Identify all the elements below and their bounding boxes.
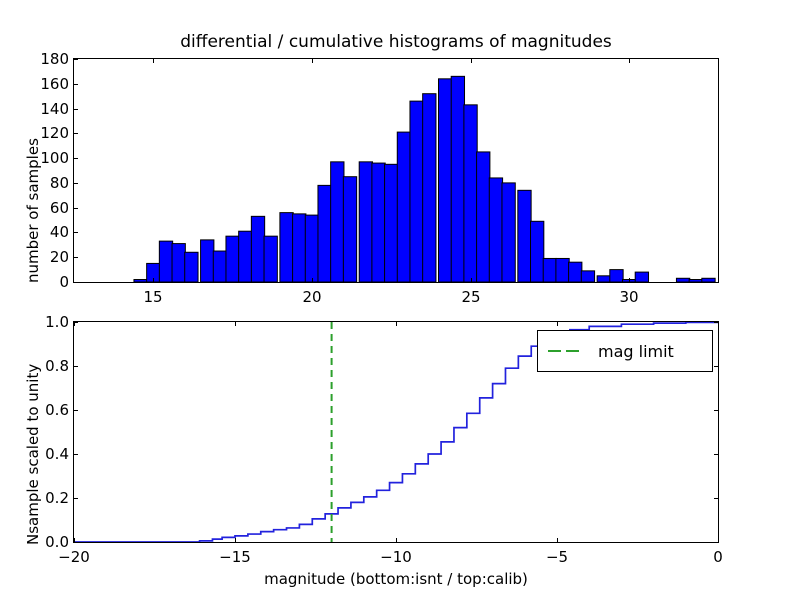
histogram-bar [134,280,147,282]
top-plot-surface [74,59,718,282]
bottom-x-tick-mark [557,538,558,542]
x-axis-label: magnitude (bottom:isnt / top:calib) [73,570,719,588]
legend-dash-segment [566,350,579,352]
legend: mag limit [537,330,713,372]
histogram-bar [343,177,356,282]
top-y-tick-mark [74,158,78,159]
histogram-bar [451,76,464,282]
bottom-y-tick-mark [74,410,78,411]
histogram-bar [185,252,198,282]
histogram-bar [318,185,331,282]
top-histogram-axes [73,58,719,283]
mag-limit-line-icon [548,350,588,352]
figure-canvas: differential / cumulative histograms of … [0,0,800,600]
bottom-x-tick-label: −15 [219,548,251,566]
chart-title: differential / cumulative histograms of … [73,32,719,52]
bottom-y-tick-mark-right [714,366,718,367]
top-x-tick-mark [629,278,630,282]
histogram-bar [264,236,277,282]
histogram-bar [518,190,531,282]
bottom-x-tick-mark [396,538,397,542]
histogram-bar [372,163,385,282]
bottom-y-tick-mark-right [714,454,718,455]
bottom-y-tick-mark [74,454,78,455]
histogram-bar [676,278,689,282]
bottom-x-tick-mark [74,538,75,542]
top-x-tick-label: 15 [143,288,162,306]
bottom-y-tick-label: 1.0 [25,313,69,331]
histogram-bar [423,94,436,282]
histogram-bar [385,164,398,282]
top-x-tick-mark [312,278,313,282]
histogram-bar [239,231,252,282]
top-x-tick-mark-upper [153,59,154,63]
histogram-bar [226,236,239,282]
bottom-x-tick-label: 0 [713,548,723,566]
histogram-bar [464,105,477,282]
histogram-bar [635,272,648,282]
histogram-bar [569,262,582,282]
top-y-tick-mark [74,133,78,134]
bottom-x-tick-mark-upper [396,322,397,326]
histogram-bar [543,258,556,282]
histogram-bar [597,276,610,282]
histogram-bar [293,214,306,282]
histogram-bar [359,162,372,282]
histogram-bar [610,270,623,282]
top-y-tick-mark [74,232,78,233]
histogram-bar [213,251,226,282]
top-y-tick-mark [74,282,78,283]
top-x-tick-mark-upper [629,59,630,63]
histogram-bar [305,215,318,282]
histogram-bar [280,213,293,282]
bottom-y-tick-mark-right [714,498,718,499]
top-x-tick-mark [471,278,472,282]
bottom-y-tick-mark [74,542,78,543]
top-y-tick-mark [74,109,78,110]
top-x-tick-label: 20 [302,288,321,306]
bottom-x-tick-label: −5 [546,548,568,566]
histogram-bar [172,244,185,282]
legend-label-mag-limit: mag limit [598,342,674,361]
bottom-x-tick-mark-upper [557,322,558,326]
differential-histogram-svg [74,59,718,282]
top-y-tick-mark [74,84,78,85]
bottom-x-tick-mark-upper [718,322,719,326]
histogram-bar [397,132,410,282]
top-x-tick-label: 30 [619,288,638,306]
histogram-bar [331,162,344,282]
bottom-x-tick-mark-upper [235,322,236,326]
top-x-tick-mark-upper [471,59,472,63]
bottom-y-tick-mark [74,366,78,367]
top-y-tick-label: 140 [25,100,69,118]
top-y-tick-mark [74,183,78,184]
histogram-bar [410,101,423,282]
histogram-bar [477,152,490,282]
histogram-bar [581,271,594,282]
bottom-x-tick-label: −10 [380,548,412,566]
bottom-y-tick-mark-right [714,542,718,543]
bottom-x-tick-label: −20 [58,548,90,566]
top-x-tick-label: 25 [461,288,480,306]
histogram-bar [159,241,172,282]
top-y-axis-label: number of samples [24,138,42,283]
histogram-bar [439,79,452,282]
histogram-bar [531,221,544,282]
top-x-tick-mark [153,278,154,282]
bottom-y-tick-mark-right [714,410,718,411]
bottom-y-axis-label: Nsample scaled to unity [24,364,42,545]
top-y-tick-label: 160 [25,75,69,93]
histogram-bar [201,240,214,282]
top-y-tick-mark [74,208,78,209]
histogram-bar [689,280,702,282]
histogram-bar [556,258,569,282]
bottom-x-tick-mark [235,538,236,542]
bottom-y-tick-mark [74,498,78,499]
legend-dash-segment [548,350,561,352]
histogram-bar [502,183,515,282]
histogram-bar [489,178,502,282]
histogram-bar [702,278,715,282]
top-x-tick-mark-upper [312,59,313,63]
bottom-x-tick-mark [718,538,719,542]
top-y-tick-mark [74,257,78,258]
histogram-bars [134,76,715,282]
top-y-tick-mark [74,59,78,60]
histogram-bar [251,216,264,282]
top-y-tick-label: 180 [25,50,69,68]
bottom-x-tick-mark-upper [74,322,75,326]
